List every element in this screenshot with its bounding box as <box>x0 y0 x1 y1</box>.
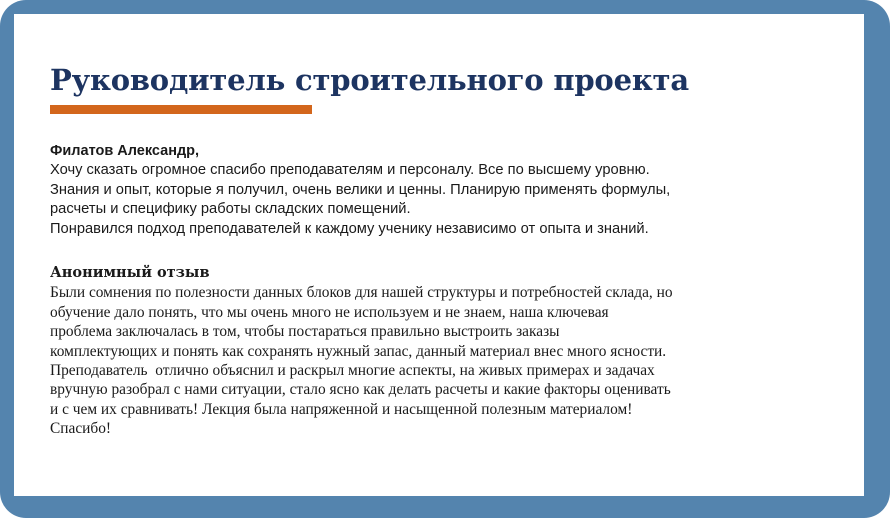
testimonial-line: комплектующих и понять как сохранять нуж… <box>50 342 850 361</box>
block-spacer <box>50 253 850 264</box>
testimonial-line: расчеты и специфику работы складских пом… <box>50 200 850 220</box>
testimonial-line: Были сомнения по полезности данных блоко… <box>50 283 850 302</box>
testimonial-line: Преподаватель отлично объяснил и раскрыл… <box>50 361 850 380</box>
testimonial-line: вручную разобрал с нами ситуации, стало … <box>50 380 850 399</box>
title-accent-rule <box>50 105 312 114</box>
testimonial-author: Филатов Александр, <box>50 142 850 160</box>
testimonial-line: и с чем их сравнивать! Лекция была напря… <box>50 400 850 419</box>
slide-canvas: Руководитель строительного проекта Филат… <box>14 14 864 496</box>
page-title: Руководитель строительного проекта <box>50 63 689 97</box>
testimonial-author: Анонимный отзыв <box>50 264 850 282</box>
testimonial-line: проблема заключалась в том, чтобы постар… <box>50 322 850 341</box>
testimonial-line: обучение дало понять, что мы очень много… <box>50 303 850 322</box>
testimonial-line: Знания и опыт, которые я получил, очень … <box>50 181 850 201</box>
testimonial-line: Понравился подход преподавателей к каждо… <box>50 220 850 240</box>
testimonials-list: Филатов Александр, Хочу сказать огромное… <box>50 142 850 439</box>
testimonial-line: Хочу сказать огромное спасибо преподават… <box>50 161 850 181</box>
testimonial-block: Анонимный отзыв Были сомнения по полезно… <box>50 264 850 438</box>
slide-frame: Руководитель строительного проекта Филат… <box>0 0 890 518</box>
testimonial-body: Хочу сказать огромное спасибо преподават… <box>50 161 850 239</box>
testimonial-line: Спасибо! <box>50 419 850 438</box>
testimonial-block: Филатов Александр, Хочу сказать огромное… <box>50 142 850 239</box>
testimonial-body: Были сомнения по полезности данных блоко… <box>50 283 850 438</box>
